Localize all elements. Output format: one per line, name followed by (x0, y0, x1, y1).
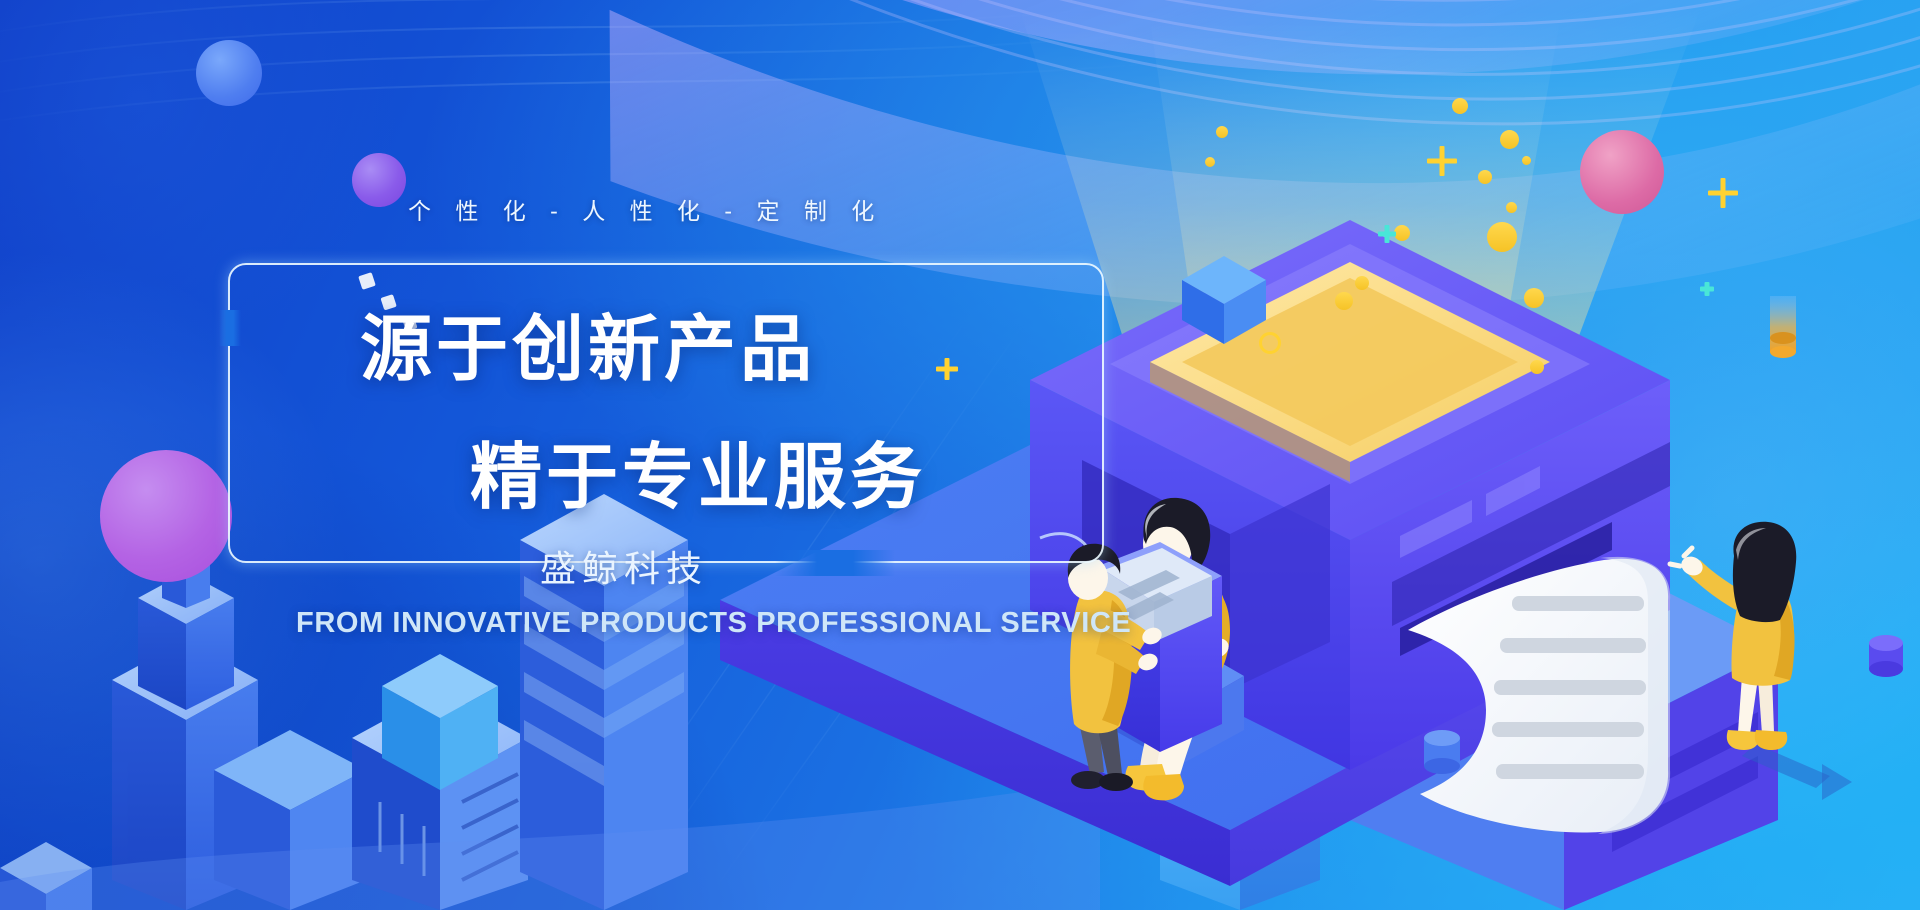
hero-text-block: 个 性 化 - 人 性 化 - 定 制 化 源于创新产品 精于专业服务 盛鲸科技… (0, 0, 1150, 700)
standing-woman-yellow-dress (1670, 520, 1900, 810)
company-name: 盛鲸科技 (540, 540, 708, 592)
headline-line-2: 精于专业服务 (470, 418, 926, 523)
english-subtitle: FROM INNOVATIVE PRODUCTS PROFESSIONAL SE… (296, 607, 1131, 640)
hero-banner: 个 性 化 - 人 性 化 - 定 制 化 源于创新产品 精于专业服务 盛鲸科技… (0, 0, 1920, 910)
tagline: 个 性 化 - 人 性 化 - 定 制 化 (408, 192, 883, 226)
headline-line-1: 源于创新产品 (360, 290, 816, 395)
